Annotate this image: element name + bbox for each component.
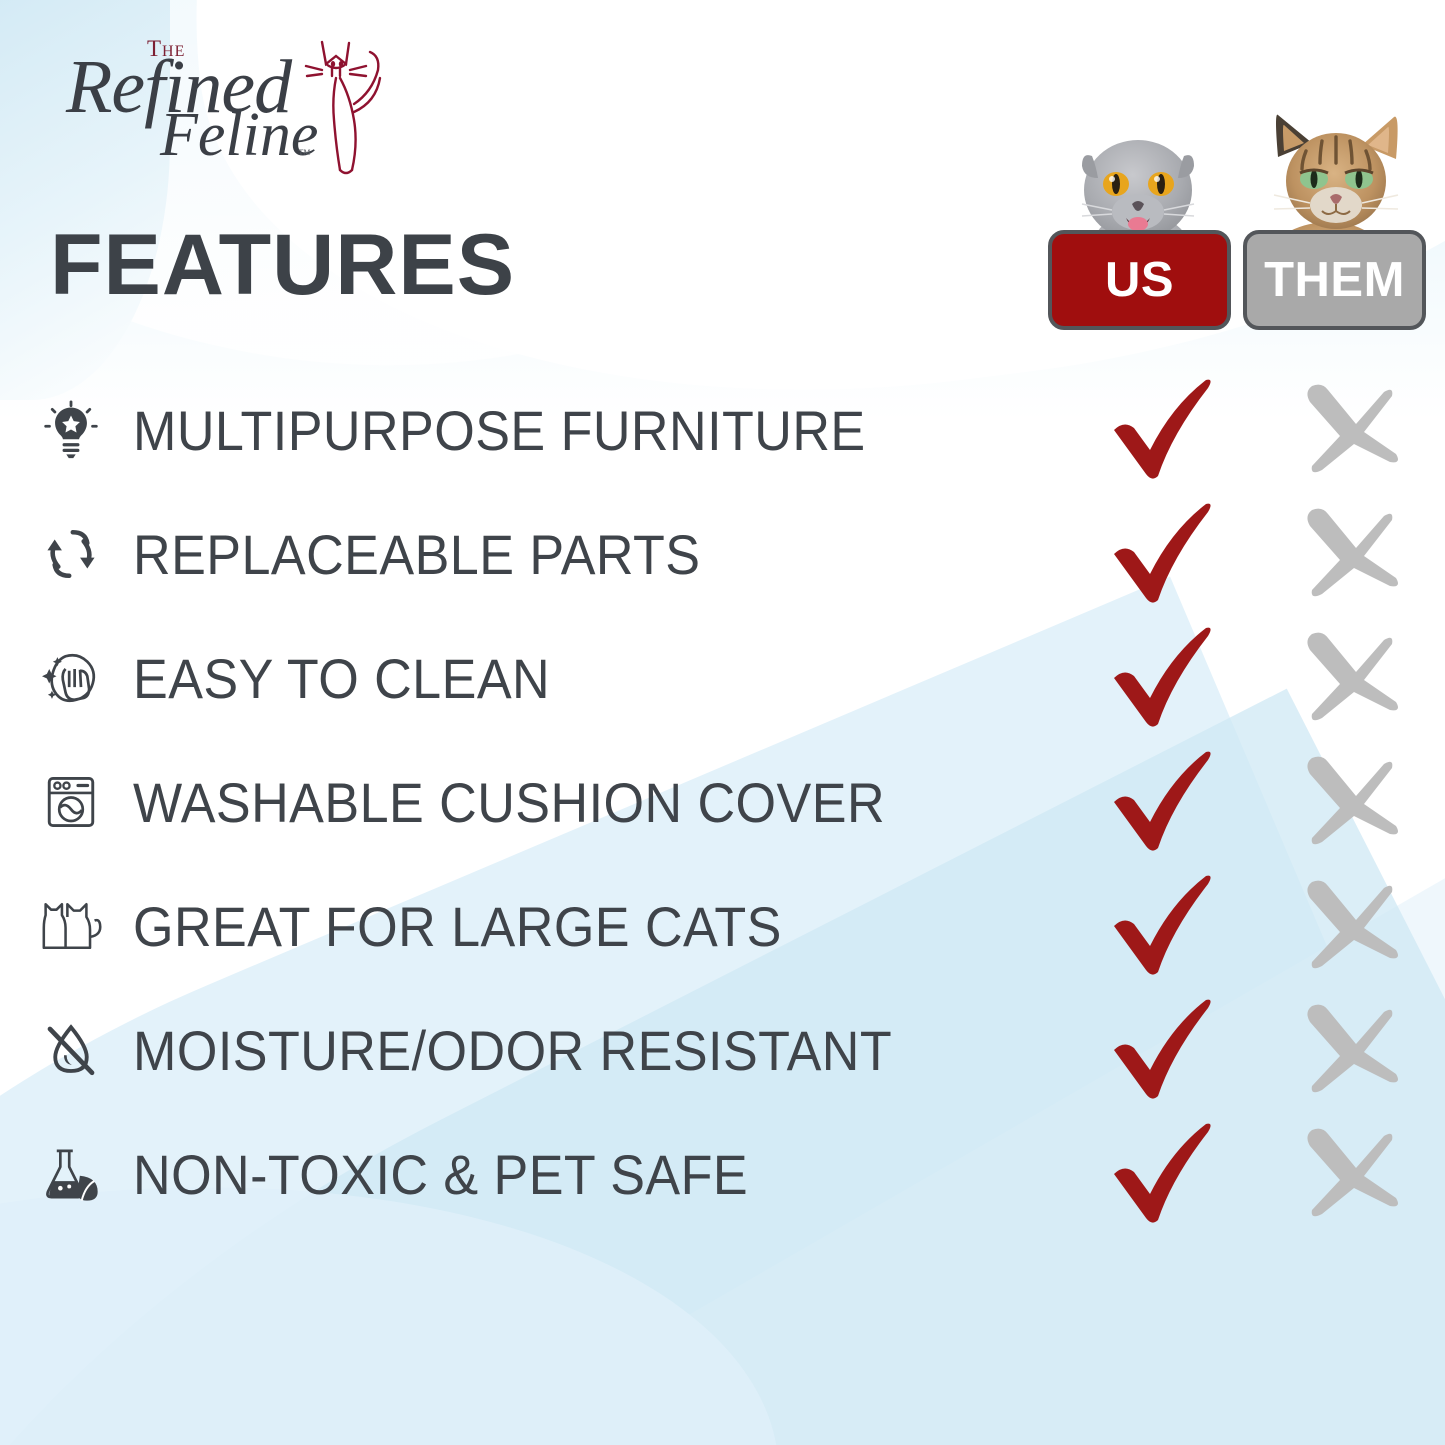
compare-header: US THEM bbox=[1048, 62, 1430, 330]
lightbulb-star-icon bbox=[28, 391, 114, 469]
feature-label: GREAT FOR LARGE CATS bbox=[133, 894, 782, 959]
feature-label: EASY TO CLEAN bbox=[133, 646, 550, 711]
cross-mark-them-icon bbox=[1296, 382, 1408, 478]
flask-leaf-icon bbox=[28, 1135, 114, 1213]
feature-row: MULTIPURPOSE FURNITURE bbox=[0, 368, 1445, 492]
feature-row: MOISTURE/ODOR RESISTANT bbox=[0, 988, 1445, 1112]
cross-mark-them-icon bbox=[1296, 630, 1408, 726]
cross-mark-them-icon bbox=[1296, 1126, 1408, 1222]
check-mark-us-icon bbox=[1110, 1122, 1220, 1226]
badge-them: THEM bbox=[1243, 230, 1426, 330]
check-mark-us-icon bbox=[1110, 626, 1220, 730]
cross-mark-them-icon bbox=[1296, 1002, 1408, 1098]
check-mark-us-icon bbox=[1110, 502, 1220, 606]
feature-row: REPLACEABLE PARTS bbox=[0, 492, 1445, 616]
check-mark-us-icon bbox=[1110, 874, 1220, 978]
brand-logo: The Refined Feline ™ bbox=[40, 22, 350, 177]
feature-label: REPLACEABLE PARTS bbox=[133, 522, 701, 587]
feature-label: MOISTURE/ODOR RESISTANT bbox=[133, 1018, 892, 1083]
cat-silhouette-icon bbox=[292, 34, 382, 179]
check-mark-us-icon bbox=[1110, 998, 1220, 1102]
cleaning-hand-icon bbox=[28, 639, 114, 717]
no-water-drop-icon bbox=[28, 1011, 114, 1089]
feature-row: NON-TOXIC & PET SAFE bbox=[0, 1112, 1445, 1236]
check-mark-us-icon bbox=[1110, 378, 1220, 482]
badge-us: US bbox=[1048, 230, 1231, 330]
washing-machine-icon bbox=[28, 763, 114, 841]
refresh-arrows-icon bbox=[28, 515, 114, 593]
feature-row: WASHABLE CUSHION COVER bbox=[0, 740, 1445, 864]
feature-row: EASY TO CLEAN bbox=[0, 616, 1445, 740]
two-cats-icon bbox=[28, 887, 114, 965]
feature-label: NON-TOXIC & PET SAFE bbox=[133, 1142, 748, 1207]
check-mark-us-icon bbox=[1110, 750, 1220, 854]
cross-mark-them-icon bbox=[1296, 754, 1408, 850]
cross-mark-them-icon bbox=[1296, 506, 1408, 602]
feature-list: MULTIPURPOSE FURNITURE bbox=[0, 368, 1445, 1236]
feature-comparison-infographic: The Refined Feline ™ FEATURES bbox=[0, 0, 1445, 1445]
feature-row: GREAT FOR LARGE CATS bbox=[0, 864, 1445, 988]
feature-label: MULTIPURPOSE FURNITURE bbox=[133, 398, 866, 463]
page-title: FEATURES bbox=[50, 222, 515, 308]
compare-badges: US THEM bbox=[1048, 230, 1426, 330]
cross-mark-them-icon bbox=[1296, 878, 1408, 974]
feature-label: WASHABLE CUSHION COVER bbox=[133, 770, 885, 835]
